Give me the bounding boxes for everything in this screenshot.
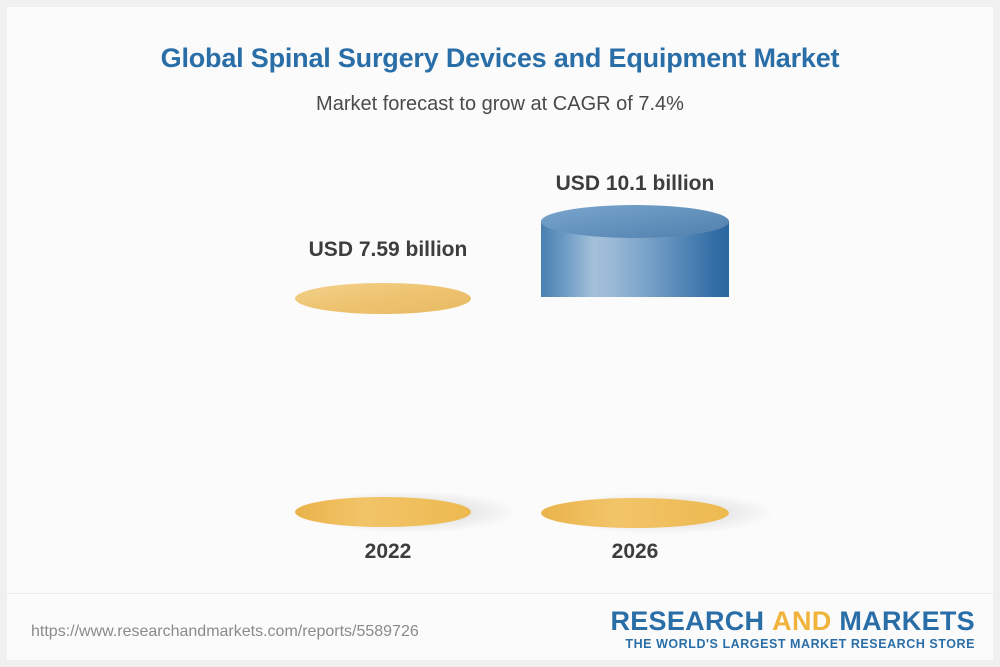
cylinder-2026 xyxy=(541,201,729,527)
infographic-root: Global Spinal Surgery Devices and Equipm… xyxy=(0,0,1000,667)
logo-word-research: RESEARCH xyxy=(610,606,764,636)
category-label-2026: 2026 xyxy=(475,540,795,564)
cylinder-top-cap xyxy=(541,205,729,238)
logo-word-and: AND xyxy=(772,606,831,636)
cylinder-segment-2022-base xyxy=(295,298,471,513)
cylinder-2022 xyxy=(295,279,471,527)
bar-group-2026: USD 10.1 billion 2026 xyxy=(475,7,795,597)
logo-word-markets: MARKETS xyxy=(839,606,975,636)
report-url-link[interactable]: https://www.researchandmarkets.com/repor… xyxy=(31,623,419,641)
logo-wordmark: RESEARCH AND MARKETS xyxy=(610,607,975,635)
footer-divider xyxy=(7,593,993,594)
cylinder-segment-2026-base xyxy=(541,289,729,514)
logo-tagline: THE WORLD'S LARGEST MARKET RESEARCH STOR… xyxy=(610,637,975,651)
chart-plot-area: USD 7.59 billion 2022 USD 10.1 billion xyxy=(7,7,993,597)
chart-card: Global Spinal Surgery Devices and Equipm… xyxy=(7,7,993,660)
value-label-2026: USD 10.1 billion xyxy=(475,172,795,196)
research-and-markets-logo[interactable]: RESEARCH AND MARKETS THE WORLD'S LARGEST… xyxy=(610,607,975,651)
cylinder-top-cap xyxy=(295,283,471,314)
